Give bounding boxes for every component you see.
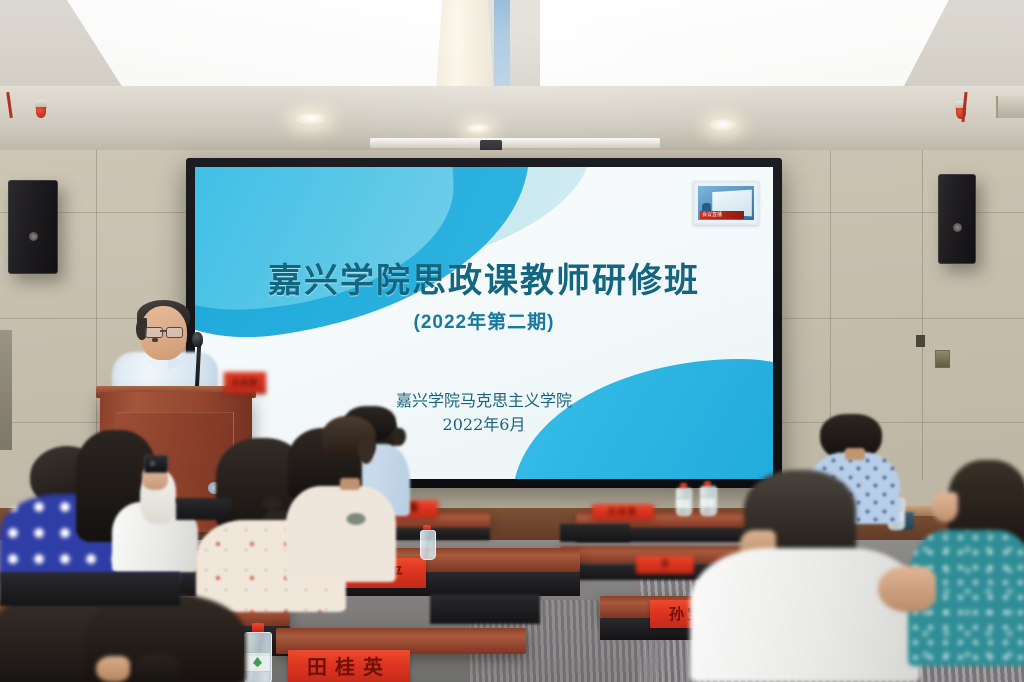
ceiling-light-panel-right xyxy=(540,0,1024,90)
water-bottle-1[interactable] xyxy=(676,488,690,514)
audience-ponytail-front-center xyxy=(134,654,180,682)
smartphone-camera[interactable] xyxy=(144,455,168,473)
ceiling-vent-right xyxy=(996,96,1024,118)
slide-organization: 嘉兴学院马克思主义学院 xyxy=(195,389,773,412)
podium-placard: 吕延勤 xyxy=(224,372,266,394)
wall-edge-left xyxy=(0,330,12,450)
presenter-glasses-left-lens xyxy=(145,327,163,338)
bottle-body xyxy=(420,530,436,560)
presenter-glasses-bridge xyxy=(160,330,167,332)
wall-molding xyxy=(370,138,660,148)
wall-speaker-right xyxy=(938,174,976,264)
audience-neck-polkadot xyxy=(845,448,865,460)
pip-badge-label: 会议直播 xyxy=(700,211,744,219)
chair-back-center xyxy=(430,594,540,624)
chair-back-far xyxy=(176,498,232,520)
slide-subtitle: (2022年第二期) xyxy=(195,307,773,334)
audience-arm-teal xyxy=(878,566,936,612)
sprinkler-head-left xyxy=(35,100,47,109)
audience-neck-front-center xyxy=(96,656,130,682)
bottle-label xyxy=(676,498,690,509)
audience-hair-tie-cream xyxy=(262,496,282,510)
microphone-head xyxy=(192,332,203,347)
water-bottle-2[interactable] xyxy=(700,486,715,514)
chair-back-left xyxy=(0,572,180,606)
slide-date: 2022年6月 xyxy=(195,411,773,435)
placard-label: 田桂英 xyxy=(307,655,391,679)
placard-tian-guiying: 田桂英 xyxy=(288,650,410,682)
ceiling xyxy=(0,0,1024,152)
audience-neck-butterfly xyxy=(340,478,360,490)
recessed-downlight-4 xyxy=(465,124,491,134)
chair-back-right xyxy=(560,524,630,542)
wall-outlet xyxy=(935,350,950,368)
bottle-cap xyxy=(252,623,264,632)
slide-title: 嘉兴学院思政课教师研修班 xyxy=(195,253,773,302)
podium-placard-label: 吕延勤 xyxy=(232,378,259,387)
wall-speaker-left xyxy=(8,180,58,274)
picture-in-picture-preview[interactable]: 会议直播 xyxy=(693,181,759,225)
water-bottle-7[interactable] xyxy=(244,632,270,682)
water-bottle-6[interactable] xyxy=(420,530,434,558)
audience-ponytail-paleblue xyxy=(358,436,374,464)
slide-canvas: 嘉兴学院思政课教师研修班 (2022年第二期) 嘉兴学院马克思主义学院 2022… xyxy=(195,167,773,479)
presenter-mouth xyxy=(152,338,158,342)
placard-lv-yanqin: 吕延勤 xyxy=(592,504,654,520)
pip-video-frame: 会议直播 xyxy=(698,186,754,220)
ceiling-light-panel-left xyxy=(0,0,450,90)
audience-face-teal xyxy=(932,492,958,522)
wall-panel-small xyxy=(916,335,925,347)
audience-body-white-polo xyxy=(690,548,920,682)
audience-body-butterfly xyxy=(286,486,396,582)
ceiling-skylight-strip-2 xyxy=(494,0,510,88)
placard-li: 李 xyxy=(636,556,694,574)
placard-label: 李 xyxy=(660,560,669,570)
presenter-glasses-right-lens xyxy=(166,327,183,338)
wall-seam xyxy=(922,150,923,480)
phone-camera-lens-icon xyxy=(149,460,156,467)
recessed-downlight-1 xyxy=(294,113,328,126)
bottle-label xyxy=(700,497,715,508)
placard-label: 吕延勤 xyxy=(608,507,638,516)
conference-room-photo: 嘉兴学院思政课教师研修班 (2022年第二期) 嘉兴学院马克思主义学院 2022… xyxy=(0,0,1024,682)
recessed-downlight-2 xyxy=(708,119,738,132)
